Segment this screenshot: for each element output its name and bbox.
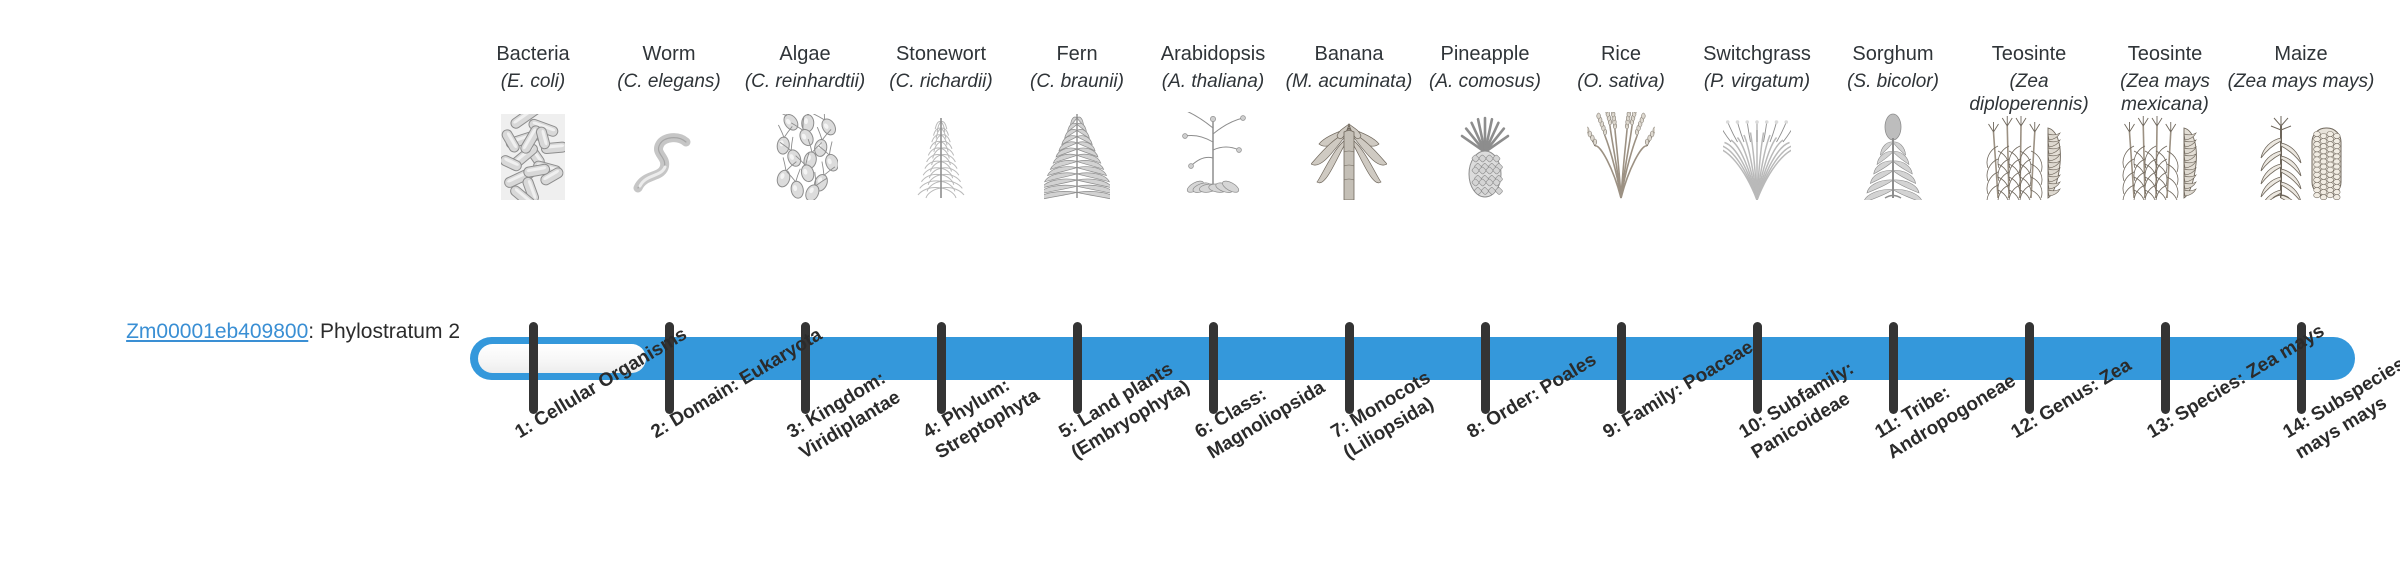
- species-scientific-name: (C. richardii): [865, 70, 1017, 93]
- species-scientific-name: (C. elegans): [593, 70, 745, 93]
- species-scientific-name: (C. reinhardtii): [729, 70, 881, 93]
- species-scientific-name: (Zea diploperennis): [1953, 70, 2105, 116]
- species-scientific-name: (E. coli): [457, 70, 609, 93]
- gene-label-separator: :: [308, 320, 320, 343]
- maize-plant-and-ear-illustration: [2236, 112, 2366, 200]
- fern-frond-illustration: [1012, 112, 1142, 200]
- gene-phylostratum-value: Phylostratum 2: [320, 320, 460, 343]
- arabidopsis-plant-illustration: [1148, 112, 1278, 200]
- gene-phylostratum-label: Zm00001eb409800: Phylostratum 2: [0, 320, 460, 344]
- species-scientific-name: (A. comosus): [1409, 70, 1561, 93]
- species-scientific-name: (Zea mays mexicana): [2089, 70, 2241, 116]
- species-scientific-name: (S. bicolor): [1817, 70, 1969, 93]
- bacteria-rods-illustration: [468, 112, 598, 200]
- phylostratigraphy-figure: Zm00001eb409800: Phylostratum 2 Bacteria…: [0, 0, 2400, 580]
- nematode-worm-illustration: [604, 112, 734, 200]
- switchgrass-plant-illustration: [1692, 112, 1822, 200]
- stonewort-alga-illustration: [876, 112, 1006, 200]
- gene-id-link[interactable]: Zm00001eb409800: [126, 320, 308, 343]
- species-common-name: Maize: [2219, 42, 2383, 66]
- species-scientific-name: (C. braunii): [1001, 70, 1153, 93]
- species-scientific-name: (A. thaliana): [1137, 70, 1289, 93]
- pineapple-plant-illustration: [1420, 112, 1550, 200]
- green-algae-cells-illustration: [740, 112, 870, 200]
- species-scientific-name: (Zea mays mays): [2225, 70, 2377, 93]
- sorghum-plant-illustration: [1828, 112, 1958, 200]
- phylostratum-tick[interactable]: [529, 322, 538, 414]
- species-scientific-name: (P. virgatum): [1681, 70, 1833, 93]
- teosinte-diploperennis-illustration: [1964, 112, 2094, 200]
- banana-tree-illustration: [1284, 112, 1414, 200]
- species-scientific-name: (O. sativa): [1545, 70, 1697, 93]
- species-scientific-name: (M. acuminata): [1273, 70, 1425, 93]
- teosinte-mexicana-illustration: [2100, 112, 2230, 200]
- rice-plant-illustration: [1556, 112, 1686, 200]
